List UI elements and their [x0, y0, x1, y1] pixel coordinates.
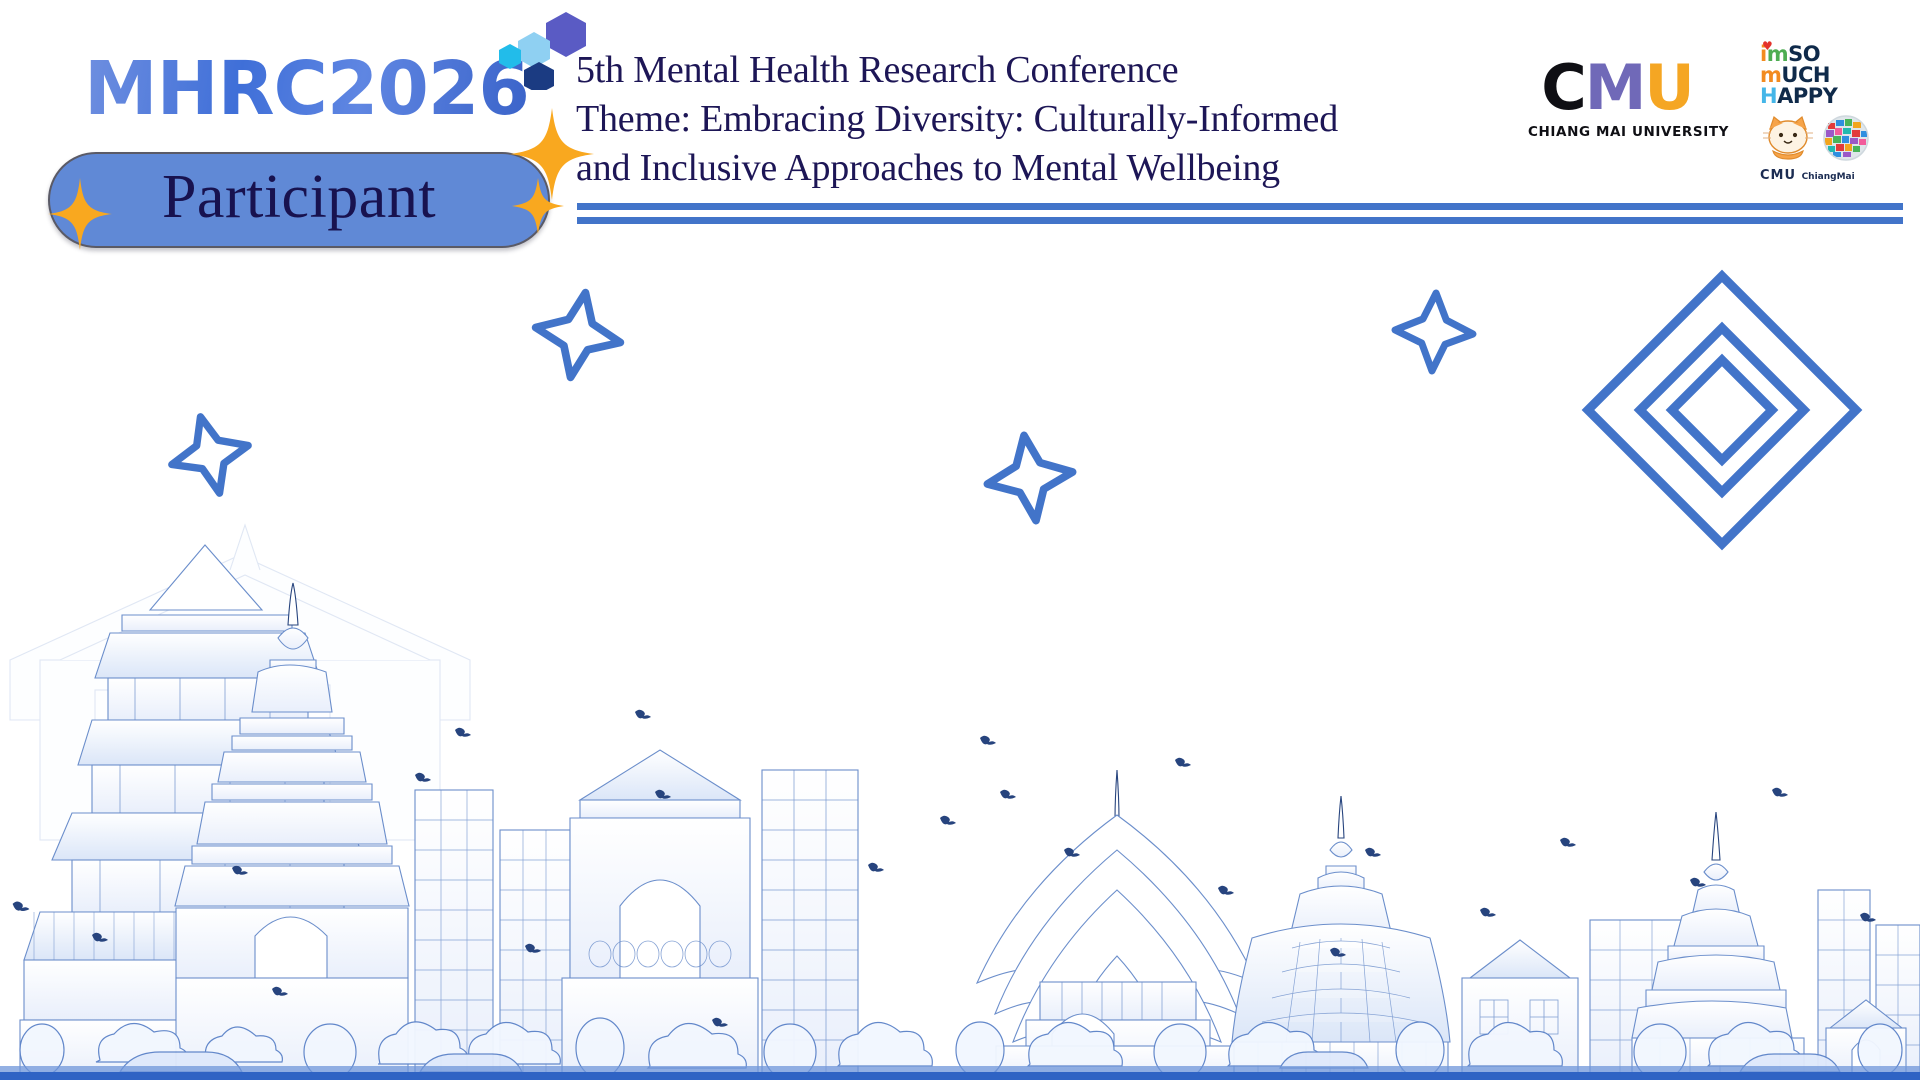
happy-row-3: HAPPY [1760, 86, 1880, 107]
imsomuchhappy-logo: ♥imSO mUCH HAPPY [1760, 44, 1880, 169]
participant-badge: Participant [48, 152, 550, 248]
happy-text-so: SO [1788, 42, 1820, 66]
participant-badge-label: Participant [162, 166, 436, 234]
cmu-lettermark: CMU [1528, 57, 1706, 119]
conference-title-line-2: Theme: Embracing Diversity: Culturally-I… [576, 95, 1456, 144]
cmu-letter-c: C [1541, 51, 1585, 124]
happy-subtitle-cmu: CMU [1760, 168, 1796, 183]
cmu-letter-m: M [1585, 51, 1645, 124]
happy-subtitle: CMU ChiangMai [1760, 168, 1880, 183]
happy-mascots [1760, 109, 1878, 161]
happy-letter-h: H [1760, 84, 1777, 108]
banner-header: MHRC2026 Participant 5th Mental Health R… [0, 0, 1920, 250]
certificate-banner: MHRC2026 Participant 5th Mental Health R… [0, 0, 1920, 1080]
happy-row-2: mUCH [1760, 65, 1880, 86]
happy-row-1: ♥imSO [1760, 44, 1880, 65]
happy-subtitle-chiangmai: ChiangMai [1802, 172, 1855, 182]
heart-icon: ♥ [1762, 42, 1771, 51]
conference-title-block: 5th Mental Health Research Conference Th… [576, 46, 1456, 193]
chiang-mai-skyline-line-art [0, 360, 1920, 1080]
conference-title-line-3: and Inclusive Approaches to Mental Wellb… [576, 144, 1456, 193]
sparkle-icon-left [48, 178, 112, 250]
hex-cyan-small-icon [499, 44, 521, 69]
cmu-letter-u: U [1644, 51, 1692, 124]
hex-light-blue-icon [518, 32, 550, 68]
cmu-logo: CMU CHIANG MAI UNIVERSITY [1528, 57, 1706, 147]
cat-mascot-icon [1763, 117, 1813, 159]
header-divider-rule-top [577, 203, 1903, 210]
cmu-subtitle: CHIANG MAI UNIVERSITY [1528, 124, 1706, 140]
colorful-globe-icon [1824, 116, 1868, 160]
header-divider-rule-bottom [577, 217, 1903, 224]
mhrc-wordmark: MHRC2026 [84, 52, 529, 126]
happy-text-appy: APPY [1777, 84, 1837, 108]
hex-dark-navy-icon [524, 62, 554, 90]
sparkle-icon-right-small [512, 178, 564, 234]
conference-title-line-1: 5th Mental Health Research Conference [576, 46, 1456, 95]
